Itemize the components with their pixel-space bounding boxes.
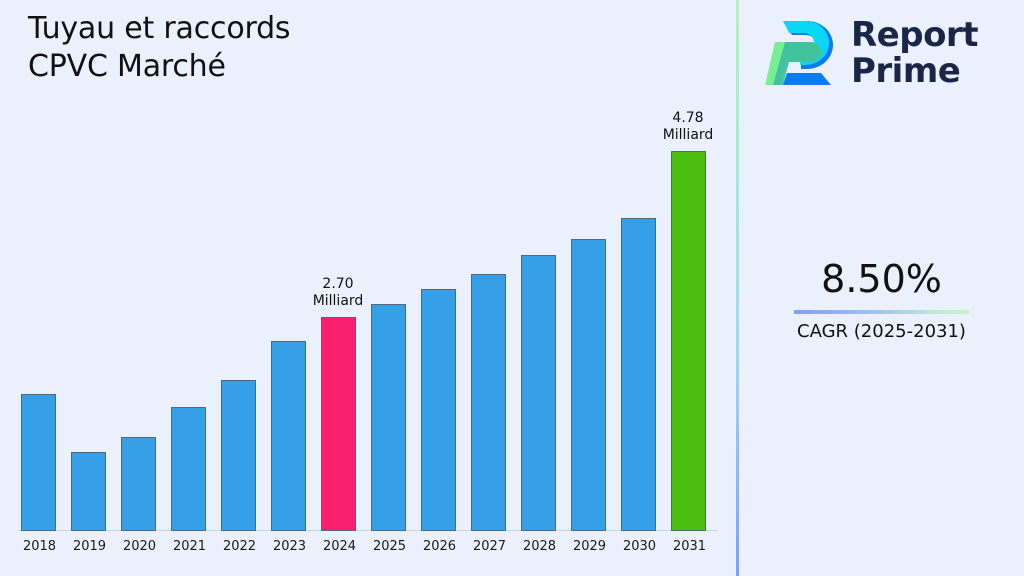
x-tick-2029: 2029 <box>571 539 608 554</box>
x-tick-2027: 2027 <box>471 539 508 554</box>
page-title: Tuyau et raccords CPVC Marché <box>28 10 290 87</box>
x-tick-2028: 2028 <box>521 539 558 554</box>
x-tick-2023: 2023 <box>271 539 308 554</box>
chart-panel: Tuyau et raccords CPVC Marché 2.70 Milli… <box>0 0 736 576</box>
bar-slot-2018 <box>21 110 71 531</box>
x-tick-2024: 2024 <box>321 539 358 554</box>
cagr-value: 8.50% <box>739 258 1024 302</box>
x-tick-2019: 2019 <box>71 539 108 554</box>
infographic-root: Tuyau et raccords CPVC Marché 2.70 Milli… <box>0 0 1024 576</box>
x-tick-2022: 2022 <box>221 539 258 554</box>
x-axis-tick-labels: 2018201920202021202220232024202520262027… <box>21 531 721 576</box>
bar-series: 2.70 Milliard4.78 Milliard <box>21 110 721 531</box>
bar-slot-2030 <box>621 110 671 531</box>
bar-slot-2028 <box>521 110 571 531</box>
bar-2022[interactable] <box>221 380 256 531</box>
cagr-divider-rule <box>794 310 969 314</box>
x-tick-2026: 2026 <box>421 539 458 554</box>
bar-chart-plot-area: 2.70 Milliard4.78 Milliard 2018201920202… <box>0 110 736 576</box>
bar-2019[interactable] <box>71 452 106 531</box>
bar-2026[interactable] <box>421 289 456 531</box>
bar-slot-2019 <box>71 110 121 531</box>
bar-2024[interactable] <box>321 317 356 531</box>
report-prime-logo-mark <box>761 17 839 89</box>
brand-panel: Report Prime 8.50% CAGR (2025-2031) <box>739 0 1024 576</box>
bar-slot-2026 <box>421 110 471 531</box>
bar-2020[interactable] <box>121 437 156 531</box>
bar-slot-2024: 2.70 Milliard <box>321 110 371 531</box>
bar-slot-2025 <box>371 110 421 531</box>
bar-slot-2022 <box>221 110 271 531</box>
bar-value-label-2031: 4.78 Milliard <box>633 110 743 143</box>
bar-slot-2031: 4.78 Milliard <box>671 110 721 531</box>
bar-2021[interactable] <box>171 407 206 531</box>
bar-2023[interactable] <box>271 341 306 531</box>
logo-wordmark: Report Prime <box>851 17 978 89</box>
x-tick-2031: 2031 <box>671 539 708 554</box>
bar-2028[interactable] <box>521 255 556 531</box>
cagr-block: 8.50% CAGR (2025-2031) <box>739 258 1024 342</box>
x-tick-2030: 2030 <box>621 539 658 554</box>
report-prime-logo: Report Prime <box>761 12 1011 94</box>
bar-2031[interactable] <box>671 151 706 531</box>
x-tick-2020: 2020 <box>121 539 158 554</box>
bar-2025[interactable] <box>371 304 406 531</box>
bar-2029[interactable] <box>571 239 606 531</box>
x-tick-2025: 2025 <box>371 539 408 554</box>
x-tick-2021: 2021 <box>171 539 208 554</box>
bar-slot-2020 <box>121 110 171 531</box>
bar-slot-2023 <box>271 110 321 531</box>
bar-2030[interactable] <box>621 218 656 531</box>
bar-slot-2021 <box>171 110 221 531</box>
bar-2018[interactable] <box>21 394 56 531</box>
bar-slot-2027 <box>471 110 521 531</box>
bar-slot-2029 <box>571 110 621 531</box>
cagr-caption: CAGR (2025-2031) <box>739 321 1024 342</box>
x-tick-2018: 2018 <box>21 539 58 554</box>
bar-2027[interactable] <box>471 274 506 531</box>
